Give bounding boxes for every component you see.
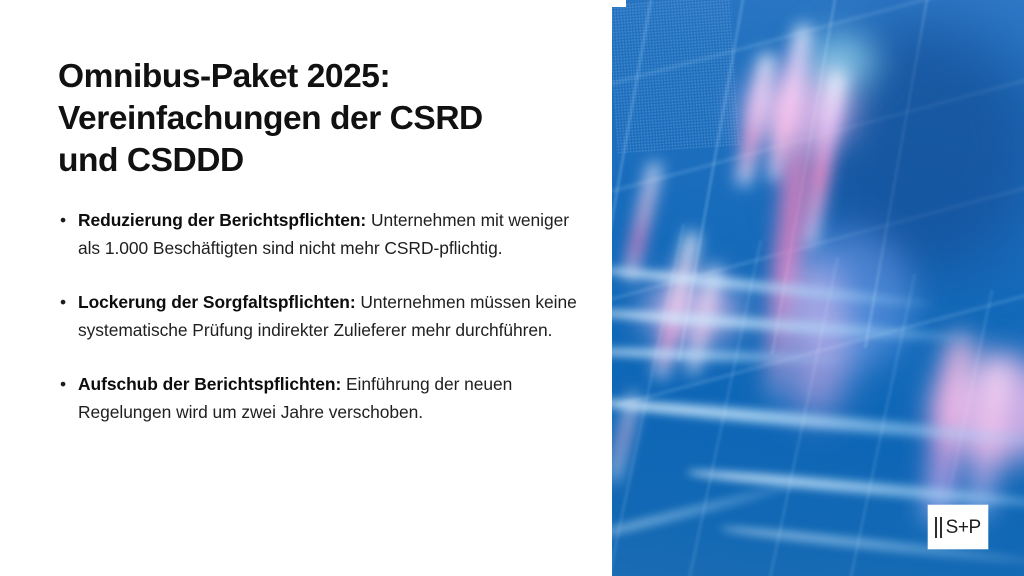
bullet-lead-text: Aufschub der Berichtspflichten: xyxy=(78,374,341,394)
bullet-marker-icon: • xyxy=(60,288,66,316)
cyan-glow-blob xyxy=(806,35,876,90)
bullet-marker-icon: • xyxy=(60,206,66,234)
list-item: • Reduzierung der Berichtspflichten: Unt… xyxy=(58,206,578,263)
logo-text: S+P xyxy=(946,518,981,537)
text-panel: Omnibus-Paket 2025: Vereinfachungen der … xyxy=(0,0,612,576)
pixel-texture-overlay xyxy=(612,0,741,154)
brand-logo: S+P xyxy=(928,505,988,549)
bullet-marker-icon: • xyxy=(60,370,66,398)
decorative-stock-chart-image: S+P xyxy=(612,0,1024,576)
slide-canvas: Omnibus-Paket 2025: Vereinfachungen der … xyxy=(0,0,1024,576)
image-corner-sliver xyxy=(612,0,626,7)
list-item: • Aufschub der Berichtspflichten: Einfüh… xyxy=(58,370,578,427)
bullet-lead-text: Reduzierung der Berichtspflichten: xyxy=(78,210,366,230)
bullet-lead-text: Lockerung der Sorgfaltspflichten: xyxy=(78,292,356,312)
logo-bars-icon xyxy=(935,517,941,538)
page-title: Omnibus-Paket 2025: Vereinfachungen der … xyxy=(58,56,578,182)
pink-glow-blob xyxy=(781,259,851,419)
list-item: • Lockerung der Sorgfaltspflichten: Unte… xyxy=(58,288,578,345)
